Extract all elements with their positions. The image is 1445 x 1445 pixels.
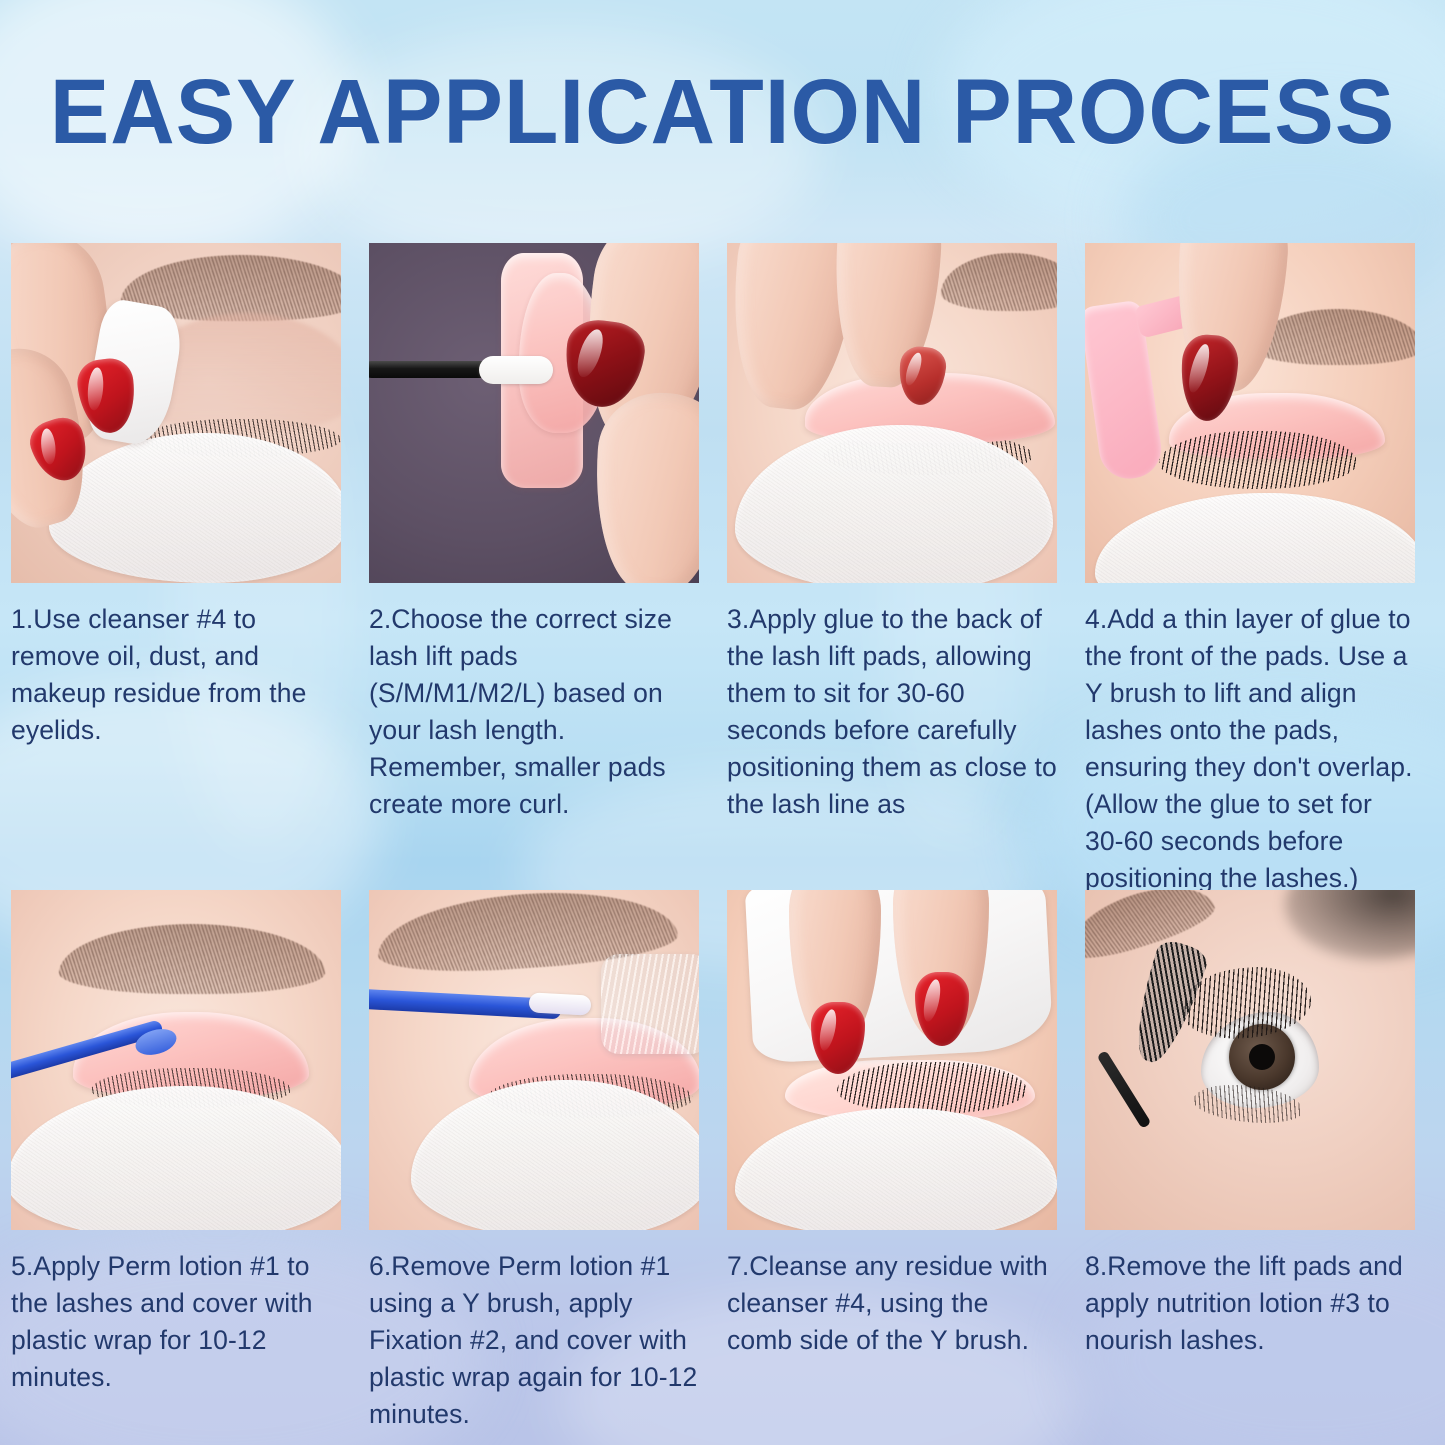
infographic-page: EASY APPLICATION PROCESS	[0, 0, 1445, 1445]
page-title: EASY APPLICATION PROCESS	[22, 62, 1424, 162]
step-caption-7: 7.Cleanse any residue with cleanser #4, …	[727, 1248, 1057, 1359]
steps-row-top: 1.Use cleanser #4 to remove oil, dust, a…	[11, 243, 1436, 897]
step-photo-7	[727, 890, 1057, 1230]
step-card-4: 4.Add a thin layer of glue to the front …	[1085, 243, 1415, 897]
steps-row-bottom: 5.Apply Perm lotion #1 to the lashes and…	[11, 890, 1436, 1433]
step-photo-3	[727, 243, 1057, 583]
step-caption-5: 5.Apply Perm lotion #1 to the lashes and…	[11, 1248, 341, 1396]
step-caption-4: 4.Add a thin layer of glue to the front …	[1085, 601, 1415, 897]
step-caption-6: 6.Remove Perm lotion #1 using a Y brush,…	[369, 1248, 699, 1433]
step-caption-8: 8.Remove the lift pads and apply nutriti…	[1085, 1248, 1415, 1359]
step-caption-3: 3.Apply glue to the back of the lash lif…	[727, 601, 1057, 823]
step-card-8: 8.Remove the lift pads and apply nutriti…	[1085, 890, 1415, 1433]
step-photo-2	[369, 243, 699, 583]
step-caption-2: 2.Choose the correct size lash lift pads…	[369, 601, 699, 823]
step-card-3: 3.Apply glue to the back of the lash lif…	[727, 243, 1057, 897]
step-caption-1: 1.Use cleanser #4 to remove oil, dust, a…	[11, 601, 341, 749]
step-card-5: 5.Apply Perm lotion #1 to the lashes and…	[11, 890, 341, 1433]
step-photo-5	[11, 890, 341, 1230]
step-photo-1	[11, 243, 341, 583]
step-photo-8	[1085, 890, 1415, 1230]
step-card-7: 7.Cleanse any residue with cleanser #4, …	[727, 890, 1057, 1433]
step-card-1: 1.Use cleanser #4 to remove oil, dust, a…	[11, 243, 341, 897]
step-photo-6	[369, 890, 699, 1230]
step-card-6: 6.Remove Perm lotion #1 using a Y brush,…	[369, 890, 699, 1433]
step-card-2: 2.Choose the correct size lash lift pads…	[369, 243, 699, 897]
step-photo-4	[1085, 243, 1415, 583]
